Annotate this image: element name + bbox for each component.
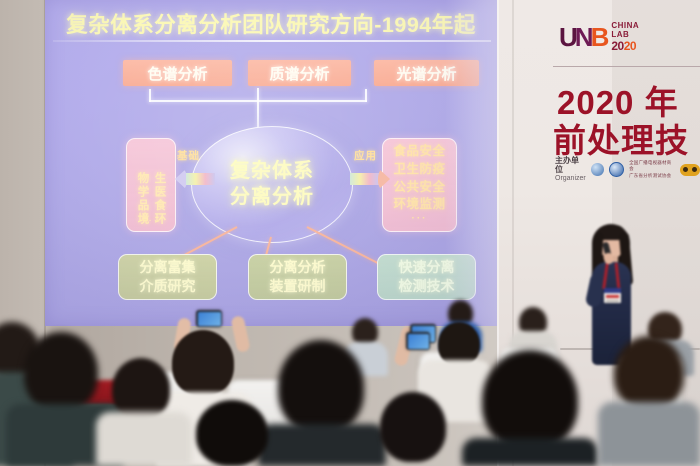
logo-year-second: 20 xyxy=(624,39,636,53)
logo-line-lab: LAB xyxy=(611,31,639,39)
right-card-line-3: 公共安全 xyxy=(393,179,445,197)
bottom-box-1-line-1: 分离富集 xyxy=(140,258,196,277)
right-card-line-1: 食品安全 xyxy=(393,143,445,161)
bottom-box-2-line-1: 分离分析 xyxy=(270,258,326,277)
slide-center-ellipse: 复杂体系 分离分析 xyxy=(191,126,353,243)
slide-top-box-chromatography: 色谱分析 xyxy=(123,60,232,86)
arrow-right-label: 应用 xyxy=(354,148,377,163)
projected-slide: 复杂体系分离分析团队研究方向-1994年起 色谱分析 质谱分析 光谱分析 复杂体… xyxy=(45,0,497,326)
logo-line-year: 2020 xyxy=(611,40,639,52)
globe-icon xyxy=(591,163,604,176)
organizer-name-2: 广东省分析测试协会 xyxy=(629,173,675,180)
slide-right-card: 食品安全 卫生防疫 公共安全 环境监测 ··· xyxy=(382,138,457,232)
slide-left-card: 生医食环 物学品境 ··· xyxy=(126,138,176,232)
left-card-col-2: 物学品境 xyxy=(135,144,149,226)
bottom-box-2-line-2: 装置研制 xyxy=(270,277,326,296)
right-card-dots: ··· xyxy=(412,214,428,224)
projector-device: SANYO xyxy=(66,404,145,446)
arrow-left-label: 基础 xyxy=(177,148,200,163)
presenter xyxy=(580,218,642,368)
organizer-label-cn: 主办单位 xyxy=(555,157,586,175)
slide-bottom-box-separation-enrichment: 分离富集 介质研究 xyxy=(118,254,217,300)
bottom-box-3-line-1: 快速分离 xyxy=(399,258,455,277)
left-card-col-1: 生医食环 xyxy=(153,144,167,226)
projector-power-led xyxy=(96,428,100,432)
center-line-1: 复杂体系 xyxy=(230,159,314,185)
logo-year-first: 20 xyxy=(611,39,623,53)
target-icon xyxy=(609,162,624,177)
banner-divider xyxy=(553,66,700,67)
bracket-stem-center xyxy=(257,88,259,132)
organizer-row: 主办单位 Organizer 全国广播电视器材商会 广东省分析测试协会 xyxy=(555,157,700,182)
organizer-label-en: Organizer xyxy=(555,175,586,183)
right-card-line-2: 卫生防疫 xyxy=(393,161,445,179)
bracket-stem-right xyxy=(365,89,367,102)
right-card-lines: 食品安全 卫生防疫 公共安全 环境监测 ··· xyxy=(383,143,456,231)
slide-title: 复杂体系分离分析团队研究方向-1994年起 xyxy=(45,8,497,39)
arrow-left-basic-icon xyxy=(175,168,215,190)
slide-bottom-box-device-development: 分离分析 装置研制 xyxy=(248,254,347,300)
projector-vent xyxy=(72,411,134,420)
left-card-dots: ··· xyxy=(127,215,175,226)
bottom-box-3-line-2: 检测技术 xyxy=(399,277,455,296)
organizer-names: 全国广播电视器材商会 广东省分析测试协会 xyxy=(629,160,675,180)
logo-line-china: CHINA xyxy=(611,22,639,30)
slide-top-box-mass-spectrometry: 质谱分析 xyxy=(248,60,351,86)
right-card-line-4: 环境监测 xyxy=(393,196,445,214)
bottom-box-1-line-2: 介质研究 xyxy=(140,277,196,296)
screenshot-root: 复杂体系分离分析团队研究方向-1994年起 色谱分析 质谱分析 光谱分析 复杂体… xyxy=(0,0,700,466)
arrow-right-application-icon xyxy=(350,168,390,190)
center-line-2: 分离分析 xyxy=(230,185,314,211)
slide-bottom-box-rapid-detection: 快速分离 检测技术 xyxy=(377,254,476,300)
slide-title-divider xyxy=(53,40,491,42)
event-banner: UNB CHINA LAB 2020 2020 年 前处理技 主办单位 Orga… xyxy=(497,0,700,195)
banner-heading-line-2: 前处理技 xyxy=(553,114,689,162)
slide-top-box-spectroscopy: 光谱分析 xyxy=(374,60,479,86)
china-lab-logo: UNB CHINA LAB 2020 xyxy=(559,22,639,52)
organizer-name-1: 全国广播电视器材商会 xyxy=(629,160,675,173)
organizer-label: 主办单位 Organizer xyxy=(555,157,586,182)
water-bottle xyxy=(39,358,46,374)
logo-wordmark: CHINA LAB 2020 xyxy=(611,22,639,52)
bracket-stem-left xyxy=(149,89,151,102)
logo-mark-icon: UNB xyxy=(559,24,606,50)
owl-icon xyxy=(680,164,700,176)
presenter-badge xyxy=(604,288,621,303)
projector-brand-label: SANYO xyxy=(86,437,110,443)
left-card-columns: 生医食环 物学品境 xyxy=(131,144,171,226)
